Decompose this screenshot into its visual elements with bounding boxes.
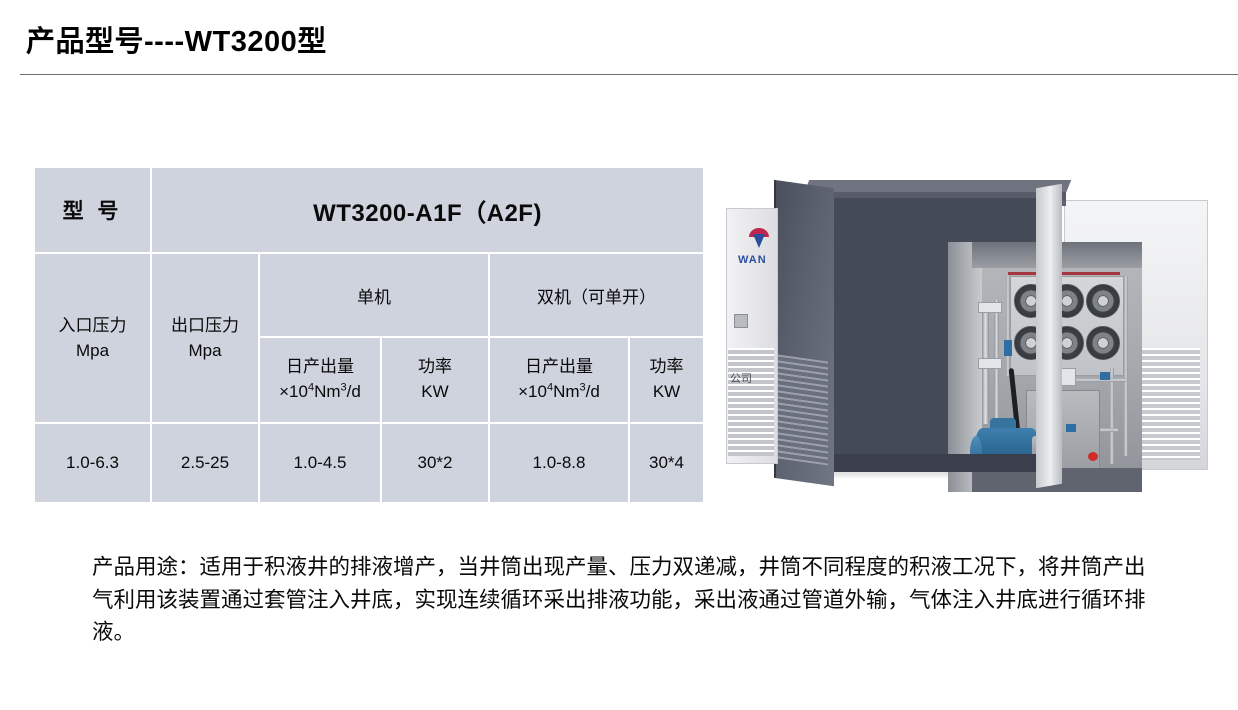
page-title: 产品型号----WT3200型 [26,18,327,60]
left-door-louver-vent [778,354,828,465]
model-value-cell: WT3200-A1F（A2F) [152,168,703,252]
cell-dual-daily-output: 1.0-8.8 [490,424,628,502]
cell-single-daily-output: 1.0-4.5 [260,424,380,502]
single-daily-output-header: 日产出量 ×104Nm3/d [260,338,380,422]
single-power-label: 功率 [418,357,452,376]
blue-valve [1066,424,1076,432]
single-daily-output-unit: ×104Nm3/d [279,382,361,401]
outlet-pressure-unit: Mpa [188,341,221,360]
left-panel-louver-vent [728,348,774,456]
red-valve-handwheel [1088,452,1098,461]
vertical-pipe [1124,276,1128,456]
table-row: 1.0-6.3 2.5-25 1.0-4.5 30*2 1.0-8.8 30*4 [35,424,703,502]
panel-latch-icon [734,314,748,328]
model-label-cell: 型 号 [35,168,150,252]
blue-valve [1100,372,1110,380]
dual-machine-group-header: 双机（可单开） [490,254,703,336]
outlet-pressure-label: 出口压力 [171,316,239,335]
panel-company-text: 公司 [730,370,752,386]
logo-v-shape [753,234,765,248]
inlet-pressure-label: 入口压力 [59,316,127,335]
dual-daily-output-header: 日产出量 ×104Nm3/d [490,338,628,422]
product-photo: WAN 公司 [712,162,1232,520]
dual-power-unit: KW [653,382,680,401]
cooling-fan-icon [1086,326,1120,360]
cell-inlet-pressure: 1.0-6.3 [35,424,150,502]
outlet-pressure-header-cell: 出口压力 Mpa [152,254,258,422]
control-box [978,358,1002,369]
cell-outlet-pressure: 2.5-25 [152,424,258,502]
vertical-pipe [1110,368,1114,464]
red-ceiling-pipe [1008,272,1120,275]
right-open-door [1036,184,1062,489]
single-power-unit: KW [421,382,448,401]
dual-power-header: 功率 KW [630,338,703,422]
cabinet-base-frame [826,454,1038,472]
blue-valve [1004,340,1012,356]
cell-dual-power: 30*4 [630,424,703,502]
single-power-header: 功率 KW [382,338,488,422]
brand-logo-text: WAN [738,254,767,266]
single-daily-output-label: 日产出量 [286,357,354,376]
spec-table: 型 号 WT3200-A1F（A2F) 入口压力 Mpa 出口压力 Mpa 单机… [33,166,705,504]
table-row-model-header: 型 号 WT3200-A1F（A2F) [35,168,703,252]
dual-daily-output-label: 日产出量 [525,357,593,376]
brand-logo-icon [749,228,769,250]
title-divider [20,74,1238,75]
dual-power-label: 功率 [650,357,684,376]
dual-daily-output-unit: ×104Nm3/d [518,382,600,401]
spec-table-container: 型 号 WT3200-A1F（A2F) 入口压力 Mpa 出口压力 Mpa 单机… [33,166,703,504]
cell-single-power: 30*2 [382,424,488,502]
table-row-group-header: 入口压力 Mpa 出口压力 Mpa 单机 双机（可单开） [35,254,703,336]
cooling-fan-icon [1086,284,1120,318]
inlet-pressure-unit: Mpa [76,341,109,360]
inlet-pressure-header-cell: 入口压力 Mpa [35,254,150,422]
cabinet-body [826,198,1036,470]
control-box [978,302,1002,313]
vertical-pipe [1006,276,1010,376]
single-machine-group-header: 单机 [260,254,488,336]
product-description: 产品用途：适用于积液井的排液增产，当井筒出现产量、压力双递减，井筒不同程度的积液… [92,551,1152,649]
